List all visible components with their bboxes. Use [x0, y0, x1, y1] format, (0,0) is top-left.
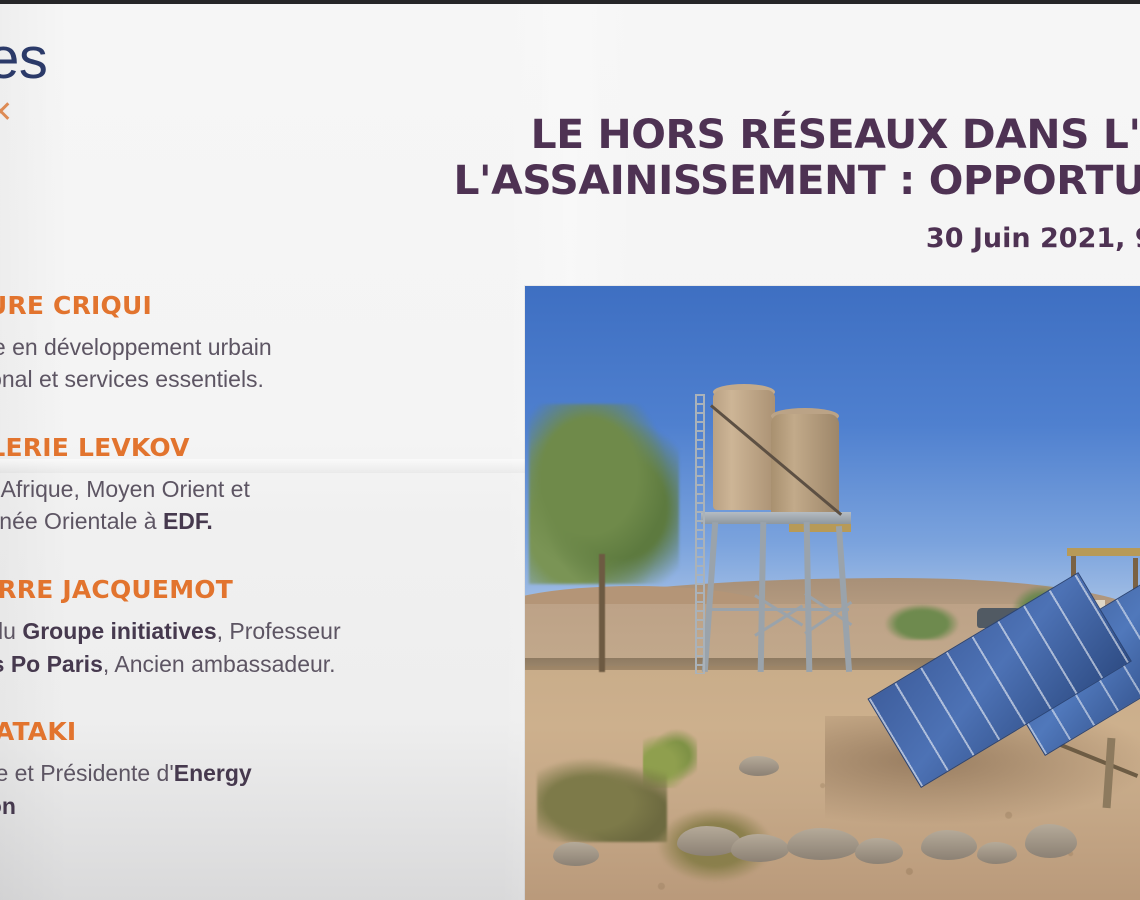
speaker-role-line: aliste en développement urbain	[0, 331, 512, 364]
photo-rock	[787, 828, 859, 860]
speaker-list: LAURE CRIQUI aliste en développement urb…	[0, 292, 512, 822]
photo-rock	[921, 830, 977, 860]
role-org: nces Po Paris	[0, 651, 103, 677]
organization-logo-text: urces	[0, 30, 47, 88]
speaker-role-line: national et services essentiels.	[0, 363, 512, 396]
slide-title-line-1: LE HORS RÉSEAUX DANS L'ÉLECT	[248, 112, 1140, 158]
photo-guy-wire-group	[701, 396, 851, 516]
event-date: 30 Juin 2021, 9h30 - 11	[268, 223, 1140, 254]
photo-rock	[1025, 824, 1077, 858]
speaker-role-line: atrice et Présidente d'Energy	[0, 757, 512, 790]
photo-tree-trunk	[599, 554, 605, 672]
logo-cross-icon: ✕	[0, 98, 13, 128]
speaker-item: VALERIE LEVKOV trice Afrique, Moyen Orie…	[0, 434, 512, 538]
role-org: Groupe initiatives	[22, 618, 216, 644]
role-text: ent du	[0, 618, 22, 644]
speaker-name: VALERIE LEVKOV	[0, 434, 512, 463]
photo-shrub	[537, 756, 667, 842]
photo-rock	[731, 834, 789, 862]
role-text: terranée Orientale à	[0, 508, 163, 534]
speaker-role: ent du Groupe initiatives, Professeur nc…	[0, 615, 512, 680]
role-text: , Professeur	[217, 618, 341, 644]
screen-top-bar	[0, 0, 1140, 4]
speaker-role-line: trice Afrique, Moyen Orient et	[0, 473, 512, 506]
photo-shelter-beam	[1067, 548, 1140, 556]
photo-rock	[855, 838, 903, 864]
speaker-role-line: terranée Orientale à EDF.	[0, 505, 512, 538]
photo-rock	[739, 756, 779, 776]
presentation-slide: urces ✕ LE HORS RÉSEAUX DANS L'ÉLECT L'A…	[0, 4, 1140, 900]
speaker-role: trice Afrique, Moyen Orient et terranée …	[0, 473, 512, 538]
photo-guy-wire	[710, 404, 842, 516]
speaker-role-line: ration	[0, 790, 512, 823]
title-block: LE HORS RÉSEAUX DANS L'ÉLECT L'ASSAINISS…	[268, 112, 1140, 254]
role-text: , Ancien ambassadeur.	[103, 651, 336, 677]
role-text: atrice et Présidente d'	[0, 760, 174, 786]
speaker-role: atrice et Présidente d'Energy ration	[0, 757, 512, 822]
photo-steel-tower	[701, 512, 851, 672]
photo-rock	[553, 842, 599, 866]
speaker-role-line: ent du Groupe initiatives, Professeur	[0, 615, 512, 648]
slide-title-line-2: L'ASSAINISSEMENT : OPPORTUNITÉS	[248, 158, 1140, 204]
speaker-role: aliste en développement urbain national …	[0, 331, 512, 396]
photo-tower-leg	[836, 526, 852, 672]
speaker-name: A FATAKI	[0, 718, 512, 747]
role-org: EDF.	[163, 508, 213, 534]
speaker-item: A FATAKI atrice et Présidente d'Energy r…	[0, 718, 512, 822]
role-org: ration	[0, 793, 16, 819]
photo-rock	[977, 842, 1017, 864]
role-org: Energy	[174, 760, 252, 786]
speaker-item: LAURE CRIQUI aliste en développement urb…	[0, 292, 512, 396]
speaker-name: PIERRE JACQUEMOT	[0, 576, 512, 605]
speaker-name: LAURE CRIQUI	[0, 292, 512, 321]
photo-distant-tree	[885, 604, 959, 640]
speaker-item: PIERRE JACQUEMOT ent du Groupe initiativ…	[0, 576, 512, 680]
slide-photo	[525, 286, 1140, 900]
speaker-role-line: nces Po Paris, Ancien ambassadeur.	[0, 648, 512, 681]
